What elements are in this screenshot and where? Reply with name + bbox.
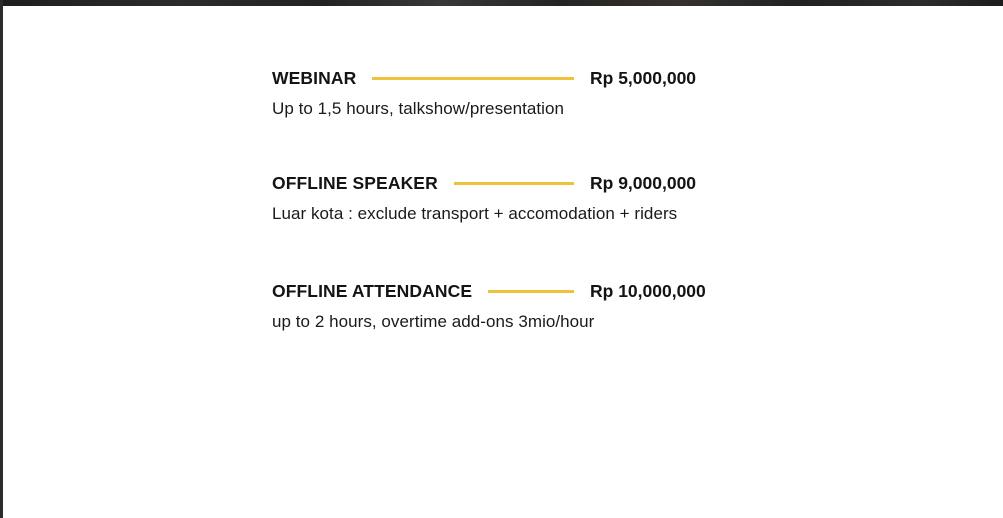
gold-rule-divider — [372, 77, 574, 80]
pricing-item-price: Rp 9,000,000 — [590, 173, 742, 194]
pricing-list: WEBINAR Rp 5,000,000 Up to 1,5 hours, ta… — [0, 0, 1003, 518]
pricing-item-header: WEBINAR Rp 5,000,000 — [272, 68, 742, 89]
pricing-item-price: Rp 5,000,000 — [590, 68, 742, 89]
pricing-item-header: OFFLINE ATTENDANCE Rp 10,000,000 — [272, 281, 742, 302]
pricing-item: OFFLINE ATTENDANCE Rp 10,000,000 up to 2… — [272, 281, 772, 332]
gold-rule-divider — [454, 182, 574, 185]
pricing-item-description: Luar kota : exclude transport + accomoda… — [272, 204, 772, 224]
pricing-item: WEBINAR Rp 5,000,000 Up to 1,5 hours, ta… — [272, 68, 772, 119]
pricing-item-description: Up to 1,5 hours, talkshow/presentation — [272, 99, 772, 119]
pricing-item: OFFLINE SPEAKER Rp 9,000,000 Luar kota :… — [272, 173, 772, 224]
pricing-item-price: Rp 10,000,000 — [590, 281, 742, 302]
gold-rule-divider — [488, 290, 574, 293]
pricing-item-title: OFFLINE ATTENDANCE — [272, 281, 472, 302]
pricing-item-title: OFFLINE SPEAKER — [272, 173, 438, 194]
pricing-item-title: WEBINAR — [272, 68, 356, 89]
pricing-item-description: up to 2 hours, overtime add-ons 3mio/hou… — [272, 312, 772, 332]
pricing-item-header: OFFLINE SPEAKER Rp 9,000,000 — [272, 173, 742, 194]
